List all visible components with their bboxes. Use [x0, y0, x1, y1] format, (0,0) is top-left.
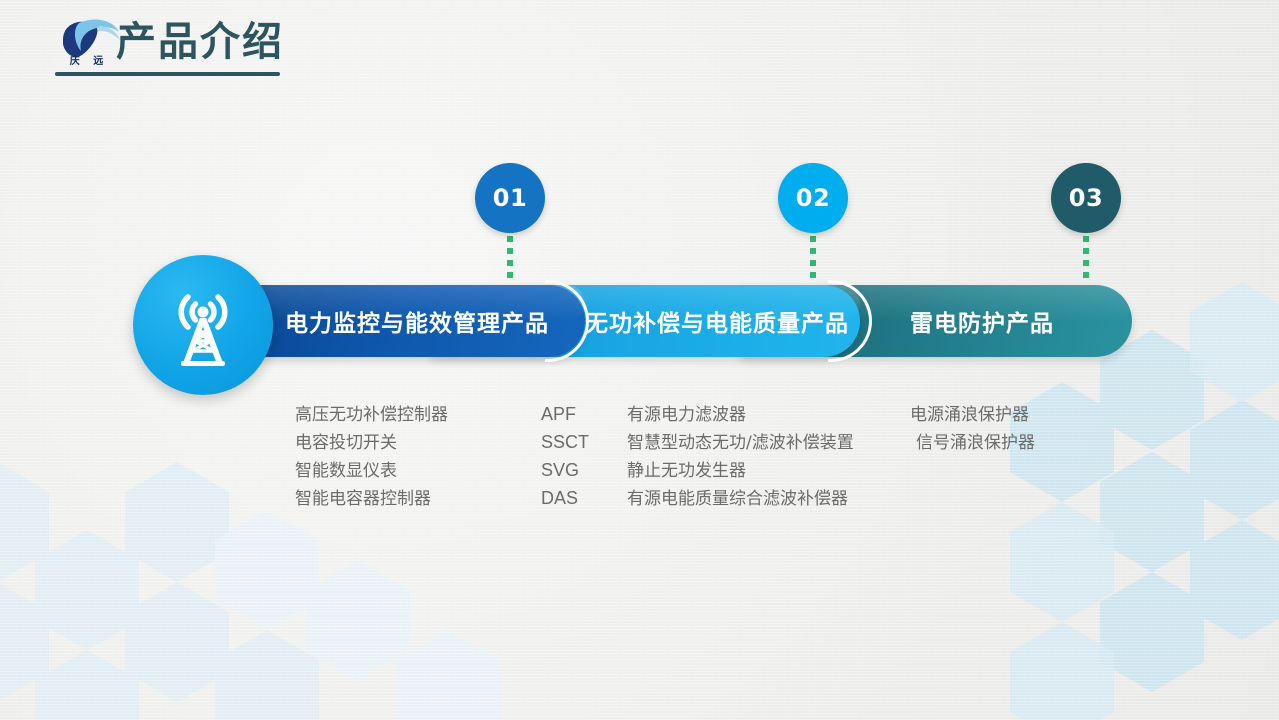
broadcast-tower-icon-disc[interactable] [133, 255, 273, 395]
list-item: 高压无功补偿控制器 [295, 400, 448, 428]
category-label-03: 雷电防护产品 [910, 304, 1054, 338]
product-name: 有源电能质量综合滤波补偿器 [627, 484, 848, 509]
product-name: 智慧型动态无功/滤波补偿装置 [627, 428, 854, 453]
product-abbreviation: SSCT [541, 432, 627, 453]
product-column-lightning-protection: 电源涌浪保护器 信号涌浪保护器 [910, 400, 1035, 456]
product-name: 智能数显仪表 [295, 456, 397, 481]
list-item: APF 有源电力滤波器 [541, 400, 854, 428]
broadcast-tower-icon [155, 277, 251, 373]
product-name: 信号涌浪保护器 [916, 428, 1035, 453]
category-label-02: 无功补偿与电能质量产品 [585, 304, 849, 338]
product-name: 电容投切开关 [295, 428, 397, 453]
product-abbreviation: DAS [541, 488, 627, 509]
product-name: 智能电容器控制器 [295, 484, 431, 509]
list-item: 电容投切开关 [295, 428, 448, 456]
category-label-01: 电力监控与能效管理产品 [285, 304, 549, 338]
product-column-power-monitoring: 高压无功补偿控制器 电容投切开关 智能数显仪表 智能电容器控制器 [295, 400, 448, 512]
list-item: 智能数显仪表 [295, 456, 448, 484]
list-item: 信号涌浪保护器 [910, 428, 1035, 456]
product-column-reactive-power: APF 有源电力滤波器 SSCT 智慧型动态无功/滤波补偿装置 SVG 静止无功… [541, 400, 854, 512]
product-name: 电源涌浪保护器 [910, 400, 1029, 425]
product-name: 高压无功补偿控制器 [295, 400, 448, 425]
product-abbreviation: APF [541, 404, 627, 425]
list-item: 智能电容器控制器 [295, 484, 448, 512]
list-item: 电源涌浪保护器 [910, 400, 1035, 428]
product-abbreviation: SVG [541, 460, 627, 481]
list-item: SVG 静止无功发生器 [541, 456, 854, 484]
product-name: 静止无功发生器 [627, 456, 746, 481]
list-item: SSCT 智慧型动态无功/滤波补偿装置 [541, 428, 854, 456]
product-name: 有源电力滤波器 [627, 400, 746, 425]
slide-canvas: 庆 远 产品介绍 01 02 03 雷电防护产品 无功补偿与电能质量产品 电力监… [0, 0, 1279, 720]
list-item: DAS 有源电能质量综合滤波补偿器 [541, 484, 854, 512]
